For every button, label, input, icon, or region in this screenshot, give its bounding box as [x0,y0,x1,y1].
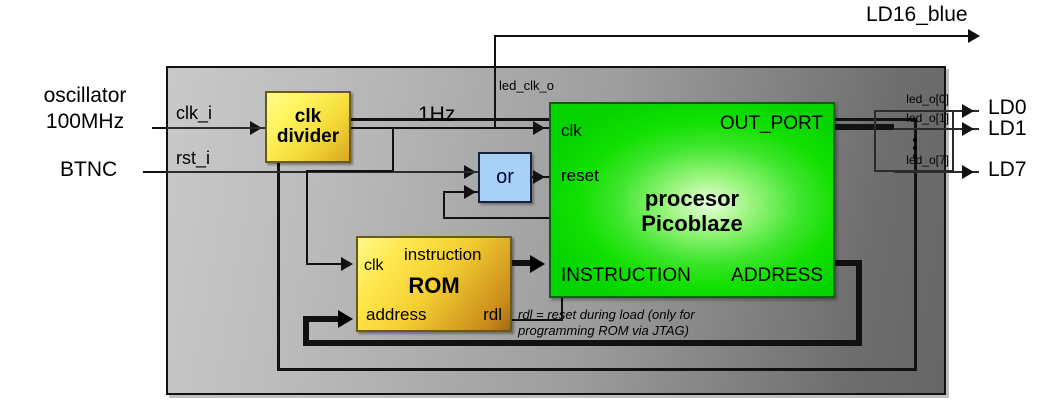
pin-label-led-o-7: led_o[7] [834,153,949,167]
wire-1hz-to-processor-clk [351,127,549,129]
arrowhead-rom-address-in [338,310,353,328]
rom-port-instruction: instruction [404,246,481,264]
arrowhead-ld7 [962,165,974,179]
arrowhead-ld1 [962,122,974,136]
arrowhead-processor-clk-in [533,121,545,135]
wire-led-clk-o-horizontal [494,35,974,37]
pin-label-led-o-1: led_o[1] [834,111,949,125]
rom-port-address: address [366,306,426,324]
or-gate-label: or [496,167,514,188]
processor-title-line2: Picoblaze [551,211,833,236]
ld1-label: LD1 [988,117,1027,141]
arrowhead-processor-reset-in [533,170,545,184]
wire-address-feedback-horizontal [303,340,862,346]
wire-rdl-horizontal [443,217,563,219]
processor-port-clk: clk [561,122,582,140]
diagram-canvas: oscillator 100MHz BTNC clk_i rst_i clk d… [0,0,1047,416]
block-clk-divider[interactable]: clk divider [265,91,351,163]
rdl-note: rdl = reset during load (only for progra… [518,307,768,340]
net-label-1hz: 1Hz [418,103,455,127]
processor-port-address: ADDRESS [731,266,823,286]
clk-divider-label-line1: clk [295,107,321,127]
processor-title: procesor Picoblaze [551,186,833,237]
rom-title: ROM [358,274,510,297]
processor-port-reset: reset [561,167,599,185]
rom-port-clk: clk [364,258,384,275]
bus-ellipsis-icon [913,138,917,158]
pin-label-led-o-0: led_o[0] [834,92,949,106]
pin-label-rst-i: rst_i [176,148,210,169]
wire-rom-clk-vertical [306,170,308,265]
arrowhead-processor-instruction-in [530,255,545,273]
arrowhead-rom-clk-in [341,257,353,271]
btnc-label: BTNC [60,158,117,182]
pin-rail-clk-i [166,127,267,129]
oscillator-label-line2: 100MHz [20,110,150,134]
wire-address-feedback-vertical-left [303,319,309,346]
wire-address-feedback-vertical-right [856,260,862,346]
pin-label-led-clk-o: led_clk_o [499,78,554,93]
wire-1hz-tap-down [392,127,394,171]
processor-port-out-port: OUT_PORT [720,114,823,134]
rom-port-rdl: rdl [483,306,502,324]
processor-title-line1: procesor [551,186,833,211]
wire-1hz-tap-left [306,170,394,172]
block-picoblaze-processor[interactable]: clk reset OUT_PORT INSTRUCTION ADDRESS p… [549,102,835,298]
block-or-gate[interactable]: or [478,152,532,203]
arrowhead-ld0 [962,104,974,118]
processor-port-instruction: INSTRUCTION [561,266,691,286]
arrowhead-or-in-bottom [464,185,476,199]
ld7-label: LD7 [988,158,1027,182]
oscillator-label-line1: oscillator [20,84,150,108]
wire-rdl-vertical-up [443,191,445,218]
clk-divider-label-line2: divider [277,127,339,147]
block-rom[interactable]: ROM clk instruction address rdl [356,236,512,332]
arrowhead-ld16-blue [968,29,980,43]
ld16-blue-label: LD16_blue [866,3,968,27]
wire-led-clk-o-vertical [494,36,496,128]
pin-label-clk-i: clk_i [176,103,212,124]
